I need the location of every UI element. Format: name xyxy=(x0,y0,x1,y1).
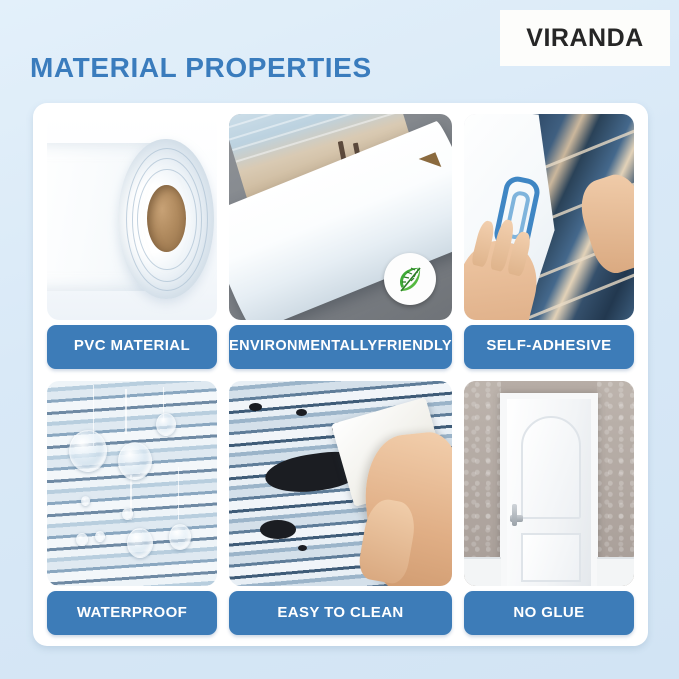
skirting-right xyxy=(597,557,634,586)
brand-name: VIRANDA xyxy=(526,24,643,53)
wall-left xyxy=(464,381,501,587)
door-leaf xyxy=(507,399,590,586)
feature-label-no-glue: NO GLUE xyxy=(464,591,634,635)
feature-label-self-adhesive: SELF-ADHESIVE xyxy=(464,325,634,369)
feature-card-self-adhesive[interactable]: SELF-ADHESIVE xyxy=(464,114,634,369)
no-glue-door-image xyxy=(464,381,634,587)
water-droplet xyxy=(127,528,153,558)
leaf-icon xyxy=(384,253,436,305)
brand-logo-box: VIRANDA xyxy=(500,10,670,66)
self-adhesive-image xyxy=(464,114,634,320)
skirting-left xyxy=(464,557,501,586)
page-title: MATERIAL PROPERTIES xyxy=(30,52,372,84)
label-line-2: FRIENDLY xyxy=(378,339,452,355)
wall-right xyxy=(597,381,634,587)
dirt-mark xyxy=(296,409,307,416)
feature-card-waterproof[interactable]: WATERPROOF xyxy=(47,381,217,636)
features-panel: PVC MATERIAL xyxy=(33,103,648,646)
feature-label-easy-to-clean: EASY TO CLEAN xyxy=(229,591,452,635)
feature-card-environmentally-friendly[interactable]: ENVIRONMENTALLY FRIENDLY xyxy=(229,114,452,369)
feature-card-no-glue[interactable]: NO GLUE xyxy=(464,381,634,636)
water-droplet xyxy=(156,413,176,436)
door-panel-bottom xyxy=(521,533,582,582)
page-header: VIRANDA MATERIAL PROPERTIES xyxy=(0,0,679,103)
eco-wallpaper-image xyxy=(229,114,452,320)
feature-card-pvc-material[interactable]: PVC MATERIAL xyxy=(47,114,217,369)
dirt-mark xyxy=(249,403,262,411)
water-droplet xyxy=(169,524,191,550)
easy-to-clean-image xyxy=(229,381,452,587)
waterproof-image xyxy=(47,381,217,587)
water-droplet xyxy=(118,442,152,480)
feature-card-easy-to-clean[interactable]: EASY TO CLEAN xyxy=(229,381,452,636)
door-panel-top xyxy=(521,416,582,519)
label-line-1: ENVIRONMENTALLY xyxy=(229,339,378,355)
feature-label-pvc-material: PVC MATERIAL xyxy=(47,325,217,369)
water-droplet xyxy=(95,531,105,542)
water-droplet xyxy=(81,496,90,506)
door-handle xyxy=(510,515,523,522)
cardboard-core xyxy=(147,185,186,252)
feature-label-environmentally-friendly: ENVIRONMENTALLY FRIENDLY xyxy=(229,325,452,369)
water-droplet xyxy=(69,430,107,472)
water-droplet xyxy=(76,533,88,546)
pvc-roll-image xyxy=(47,114,217,320)
features-grid: PVC MATERIAL xyxy=(47,114,634,635)
dirt-mark xyxy=(260,520,296,538)
dirt-mark xyxy=(298,545,307,551)
water-droplet xyxy=(122,508,133,520)
pvc-roll-shape xyxy=(118,139,213,299)
feature-label-waterproof: WATERPROOF xyxy=(47,591,217,635)
